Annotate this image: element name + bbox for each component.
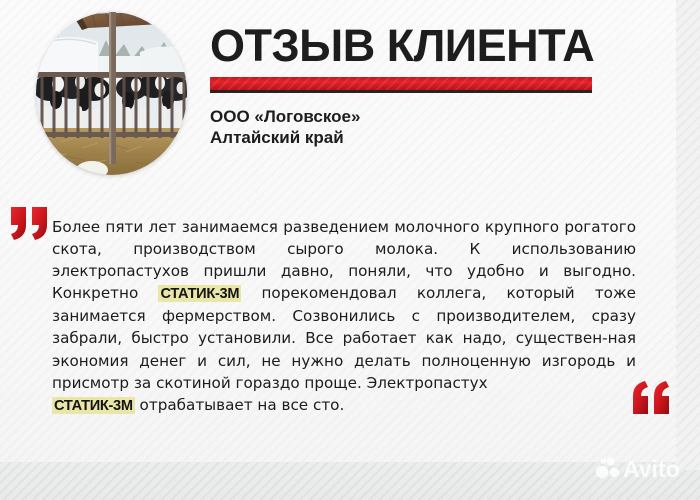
- client-photo: [36, 12, 187, 175]
- company-region: Алтайский край: [210, 127, 680, 148]
- testimonial-paragraph: Более пяти лет занимаемся разведением мо…: [52, 216, 636, 394]
- testimonial-text: Более пяти лет занимаемся разведением мо…: [52, 216, 636, 417]
- avito-logo-icon: Avito: [594, 452, 694, 482]
- company-name: ООО «Логовское»: [210, 106, 680, 127]
- page-title: ОТЗЫВ КЛИЕНТА: [210, 22, 680, 70]
- avito-wordmark: Avito: [623, 456, 680, 482]
- quote-open-icon: [8, 203, 52, 243]
- testimonial-card: ОТЗЫВ КЛИЕНТА ООО «Логовское» Алтайский …: [0, 0, 700, 500]
- brand-highlight-statik-3m-2: СТАТИК-3М: [52, 397, 135, 414]
- quote-close-icon: [630, 378, 674, 418]
- header-block: ОТЗЫВ КЛИЕНТА ООО «Логовское» Алтайский …: [210, 22, 680, 148]
- avito-watermark: Avito: [594, 452, 694, 482]
- title-underline-rule: [210, 77, 592, 90]
- testimonial-text-part-3: отрабатывает на все сто.: [135, 396, 345, 414]
- company-info: ООО «Логовское» Алтайский край: [210, 106, 680, 148]
- brand-highlight-statik-3m-1: СТАТИК-3М: [158, 285, 241, 302]
- testimonial-paragraph-last: СТАТИК-3М отрабатывает на все сто.: [52, 394, 636, 417]
- barn-cows-illustration: [36, 12, 187, 175]
